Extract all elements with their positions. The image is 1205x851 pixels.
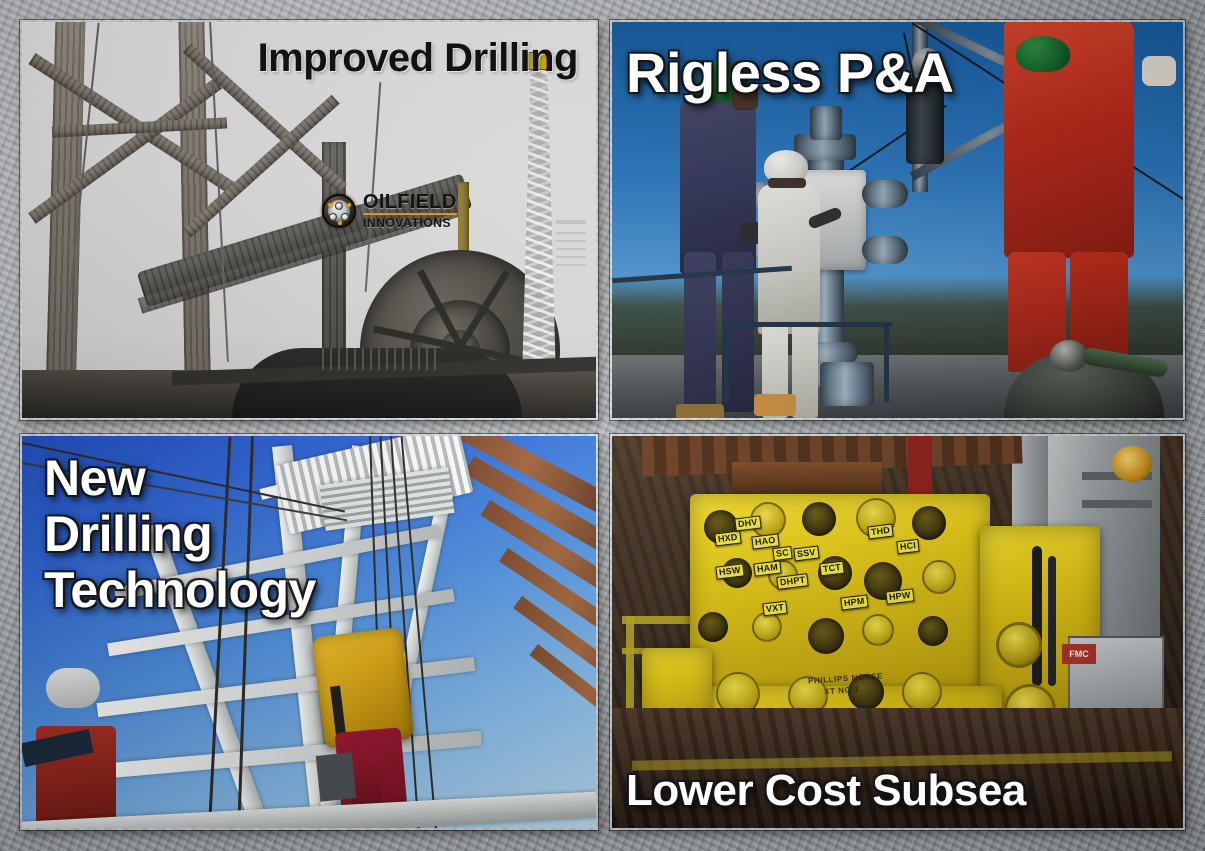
green-helmet-icon-2: [1016, 36, 1070, 72]
three-node-circle-icon: [322, 194, 356, 228]
scene-wooden-derrick: [22, 22, 596, 418]
brand-logo[interactable]: OILFIELD INNOVATIONS: [322, 192, 457, 229]
panel-improved-drilling[interactable]: Improved Drilling OILFIELD INNOVATIONS: [20, 20, 598, 420]
panel-lower-cost-subsea[interactable]: FMC HXD DHV HAO SC SSV HSW HAM DHPT TCT …: [610, 434, 1185, 830]
panel-new-drilling-tech[interactable]: New Drilling Technology OILFIELD INNOVAT…: [20, 434, 598, 830]
worker-navy: [680, 94, 756, 274]
worker-white: [758, 184, 820, 334]
subsea-tag: HCI: [896, 539, 920, 555]
panel-rigless-pa[interactable]: Rigless P&A OILFIELD INNOVATIONS: [610, 20, 1185, 420]
brand-name-top: OILFIELD: [363, 192, 457, 215]
headline-rigless-pa: Rigless P&A: [626, 44, 954, 102]
subsea-tag: SC: [772, 546, 792, 561]
headline-improved-drilling: Improved Drilling: [258, 36, 578, 81]
image-collage: Improved Drilling OILFIELD INNOVATIONS: [0, 0, 1205, 851]
headline-lower-cost-subsea: Lower Cost Subsea: [626, 766, 1026, 816]
headline-new-drilling-technology: New Drilling Technology: [44, 450, 316, 618]
brand-name-bottom: INNOVATIONS: [363, 217, 457, 229]
